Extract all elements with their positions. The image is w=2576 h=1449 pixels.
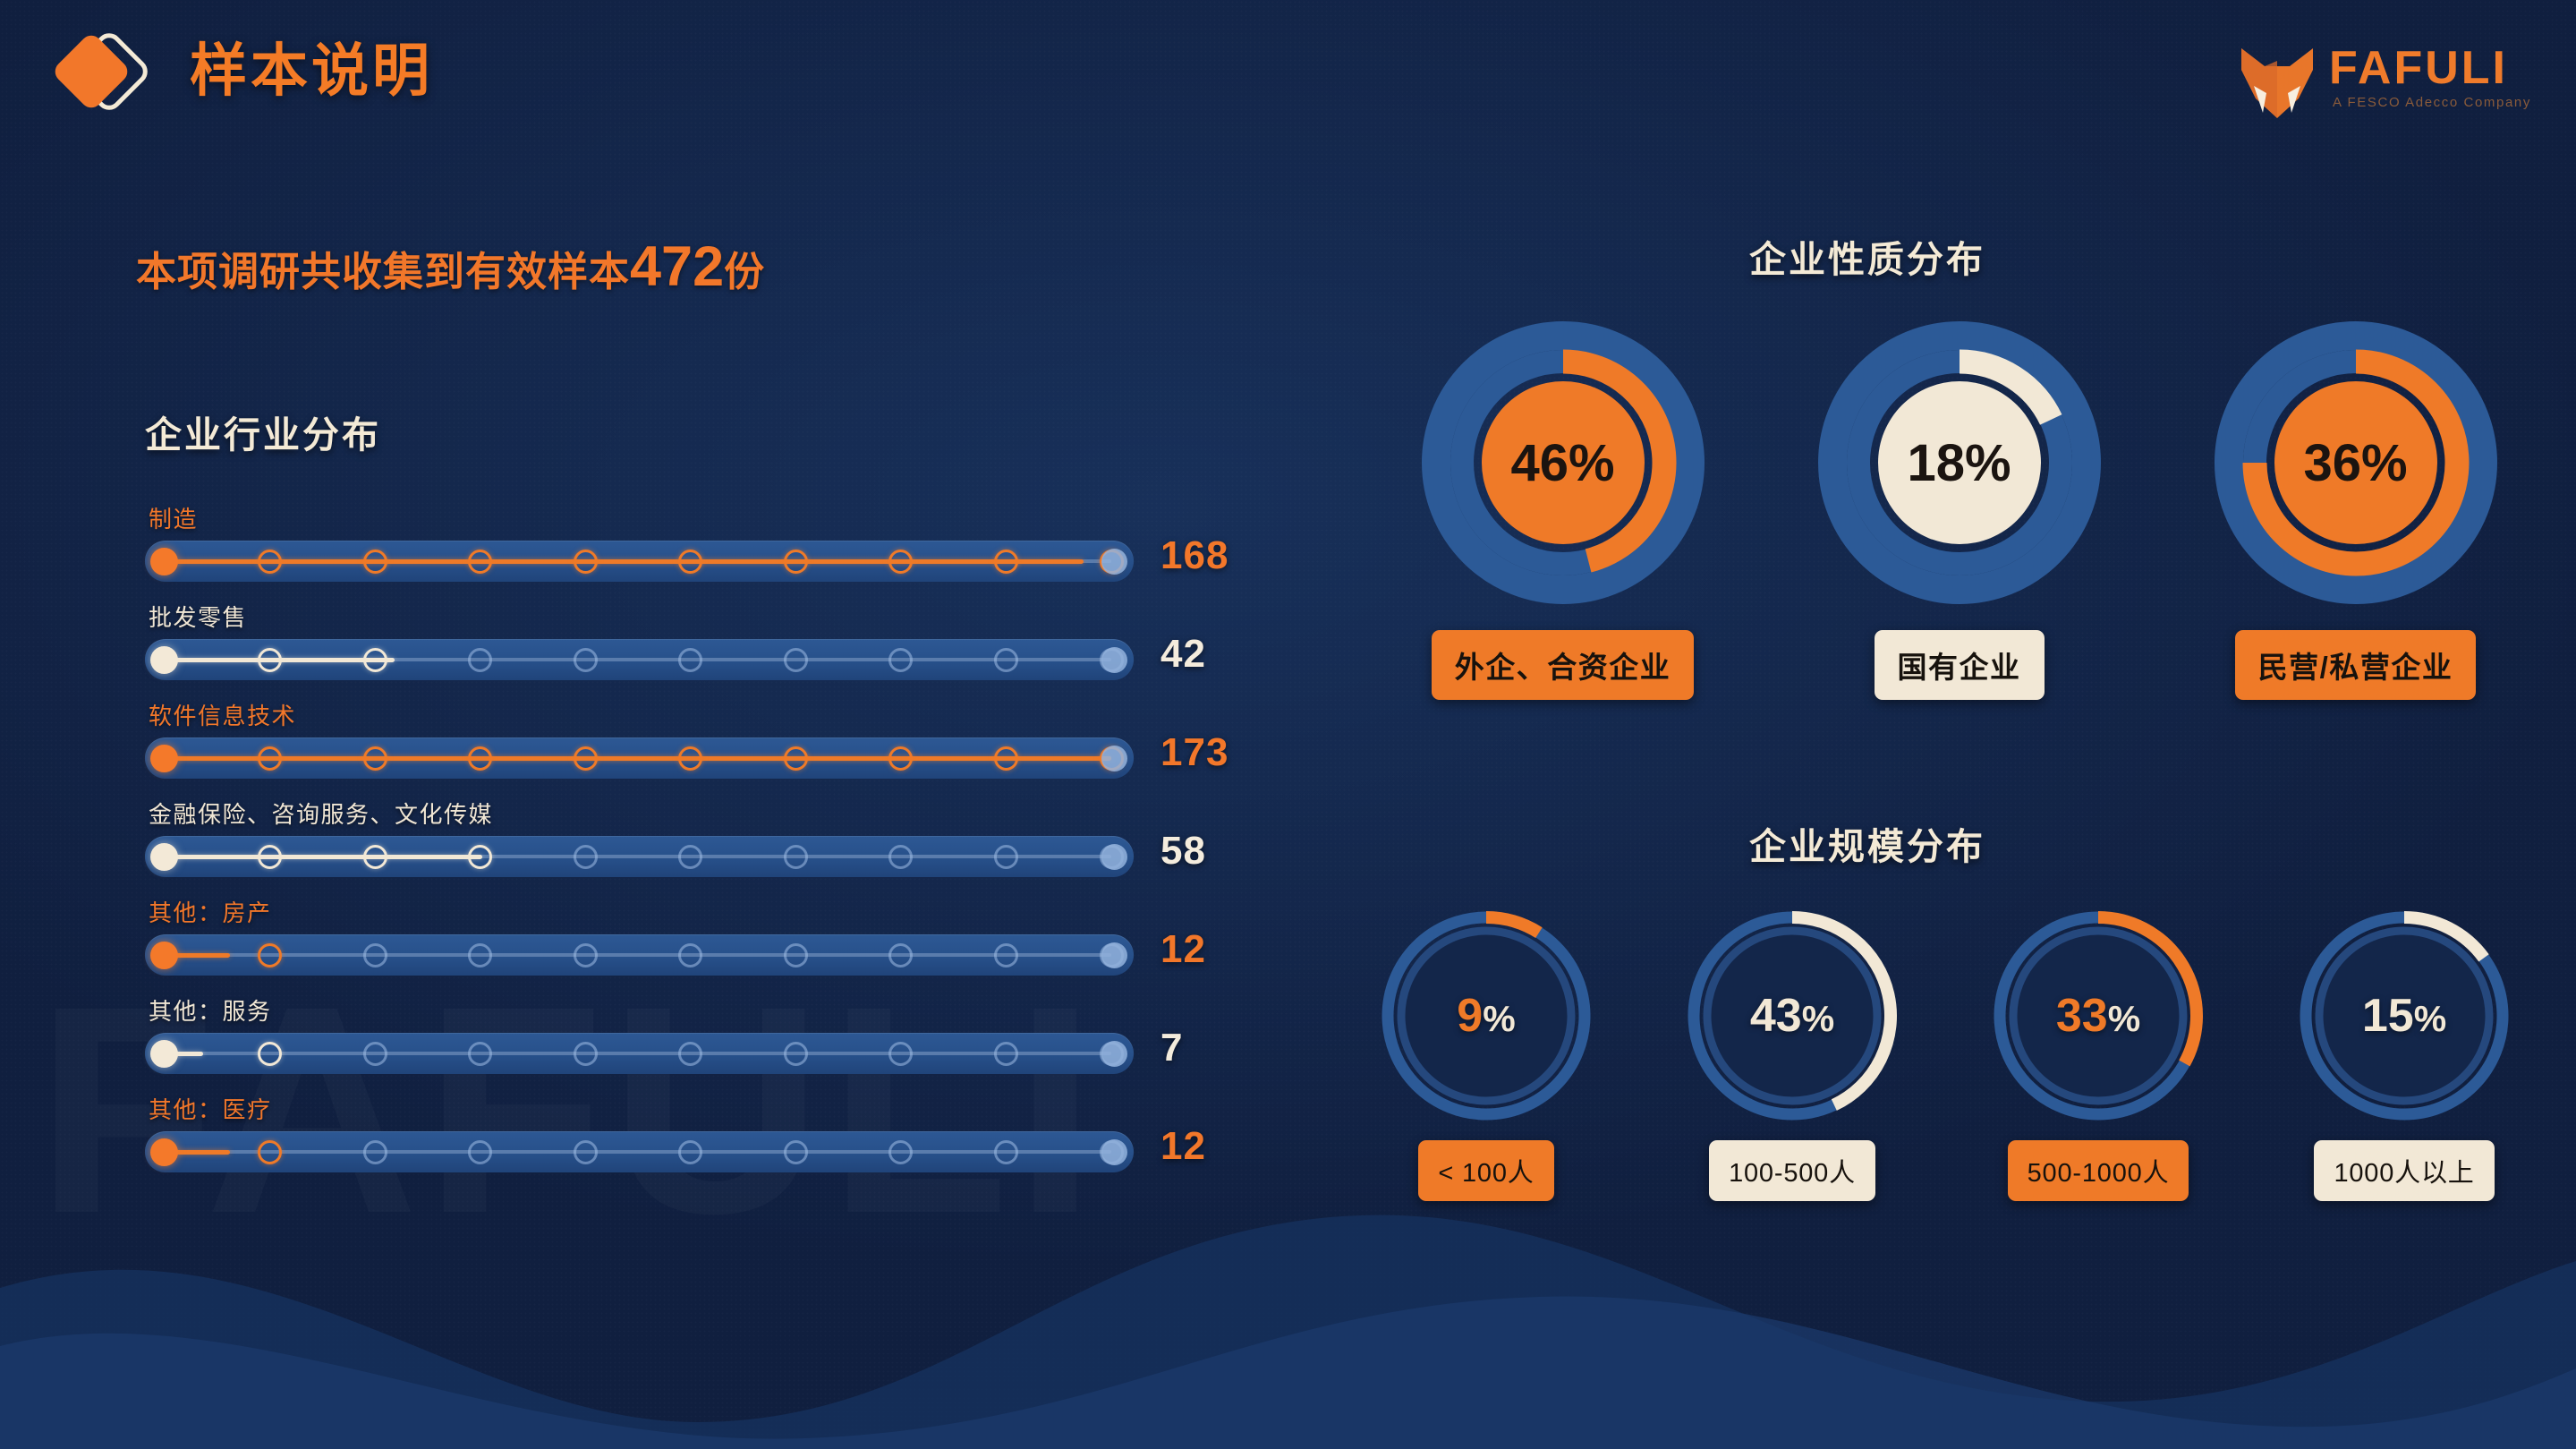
bar-start-dot <box>150 548 178 575</box>
slide-background: FAFULI 样本说明 FAFULI A FESCO Adecco Compan… <box>0 0 2576 1449</box>
bar-label: 制造 <box>149 501 198 534</box>
industry-bar-list: 制造168批发零售42软件信息技术173金融保险、咨询服务、文化传媒58其他：房… <box>145 501 1254 1190</box>
bar-node <box>784 1140 808 1164</box>
donut-legend-pill[interactable]: 民营/私营企业 <box>2235 630 2477 700</box>
bar-node <box>888 746 913 771</box>
bar-node <box>994 943 1018 967</box>
bar-label: 其他：房产 <box>149 895 272 928</box>
bar-node <box>468 1140 492 1164</box>
scale-donut-item: 15%1000人以上 <box>2251 904 2557 1201</box>
bar-value: 7 <box>1160 1026 1183 1070</box>
bar-node <box>678 845 702 869</box>
bar-node <box>994 550 1018 574</box>
bar-node <box>888 648 913 672</box>
bar-start-dot <box>150 646 178 674</box>
brand-tagline: A FESCO Adecco Company <box>2333 95 2531 110</box>
donut-chart: 18% <box>1812 315 2107 610</box>
headline-suffix: 份 <box>724 249 765 294</box>
diamond-logo-icon <box>52 27 164 116</box>
bar-node <box>994 845 1018 869</box>
bar-end-knob <box>1101 549 1127 575</box>
bar-node <box>258 943 282 967</box>
bar-start-dot <box>150 1040 178 1068</box>
bar-node <box>363 845 387 869</box>
bar-node <box>784 648 808 672</box>
bar-value: 58 <box>1160 829 1206 874</box>
bar-node <box>574 1042 598 1066</box>
bar-track[interactable] <box>145 737 1134 779</box>
bar-node <box>784 550 808 574</box>
donut-center-value: 15% <box>2362 989 2446 1043</box>
nature-donut-item: 36%民营/私营企业 <box>2157 315 2554 700</box>
donut-center-value: 33% <box>2056 989 2140 1043</box>
bar-node <box>784 746 808 771</box>
scale-donut-item: 43%100-500人 <box>1639 904 1945 1201</box>
bar-node <box>363 648 387 672</box>
headline-number: 472 <box>630 235 724 298</box>
scale-donut-row: 9%< 100人43%100-500人33%500-1000人15%1000人以… <box>1333 904 2559 1201</box>
slide-header: 样本说明 FAFULI A FESCO Adecco Company <box>0 0 2576 157</box>
bar-row: 批发零售42 <box>145 600 1254 698</box>
bar-node <box>258 550 282 574</box>
bar-node <box>258 746 282 771</box>
bar-node <box>994 648 1018 672</box>
donut-chart: 33% <box>1986 904 2210 1128</box>
bar-fill <box>165 855 482 859</box>
bar-rail <box>165 1052 1111 1055</box>
donut-legend-pill[interactable]: 500-1000人 <box>2008 1140 2189 1201</box>
bar-track[interactable] <box>145 1131 1134 1172</box>
donut-legend-pill[interactable]: 外企、合资企业 <box>1432 630 1695 700</box>
bar-node <box>363 746 387 771</box>
bar-end-knob <box>1101 844 1127 870</box>
bar-start-dot <box>150 745 178 772</box>
bar-value: 173 <box>1160 730 1228 775</box>
bar-track[interactable] <box>145 541 1134 582</box>
bar-end-knob <box>1101 746 1127 771</box>
nature-donut-item: 46%外企、合资企业 <box>1365 315 1761 700</box>
donut-chart: 43% <box>1680 904 1904 1128</box>
bar-label: 其他：服务 <box>149 993 272 1027</box>
bar-node <box>363 943 387 967</box>
headline-prefix: 本项调研共收集到有效样本 <box>136 249 630 294</box>
bar-track[interactable] <box>145 836 1134 877</box>
bar-node <box>994 1042 1018 1066</box>
bar-value: 12 <box>1160 1124 1206 1169</box>
bar-label: 其他：医疗 <box>149 1092 272 1125</box>
bar-node <box>258 1140 282 1164</box>
bar-node <box>468 845 492 869</box>
donut-legend-pill[interactable]: < 100人 <box>1418 1140 1553 1201</box>
bar-node <box>888 550 913 574</box>
nature-donut-row: 46%外企、合资企业18%国有企业36%民营/私营企业 <box>1365 315 2555 700</box>
bar-end-knob <box>1101 1139 1127 1165</box>
bar-start-dot <box>150 942 178 969</box>
bar-node <box>678 1042 702 1066</box>
bar-track[interactable] <box>145 1033 1134 1074</box>
bar-node <box>678 746 702 771</box>
bar-node <box>468 943 492 967</box>
bar-node <box>574 943 598 967</box>
donut-chart: 36% <box>2208 315 2504 610</box>
bar-node <box>888 1042 913 1066</box>
bar-end-knob <box>1101 1041 1127 1067</box>
bar-node <box>574 1140 598 1164</box>
bar-node <box>784 1042 808 1066</box>
bar-node <box>574 845 598 869</box>
headline: 本项调研共收集到有效样本472份 <box>136 234 765 299</box>
donut-center-value: 46% <box>1482 381 1645 544</box>
nature-section-title: 企业性质分布 <box>1749 229 1985 283</box>
bar-start-dot <box>150 843 178 871</box>
scale-donut-item: 9%< 100人 <box>1333 904 1639 1201</box>
bar-end-knob <box>1101 647 1127 673</box>
bar-end-knob <box>1101 942 1127 968</box>
nature-donut-item: 18%国有企业 <box>1761 315 2157 700</box>
bar-label: 软件信息技术 <box>149 698 296 731</box>
bar-label: 批发零售 <box>149 600 247 633</box>
donut-legend-pill[interactable]: 1000人以上 <box>2314 1140 2494 1201</box>
donut-center-value: 36% <box>2274 381 2437 544</box>
bar-row: 其他：医疗12 <box>145 1092 1254 1190</box>
bar-value: 42 <box>1160 632 1206 677</box>
bar-node <box>468 1042 492 1066</box>
bar-node <box>678 943 702 967</box>
bar-node <box>363 1042 387 1066</box>
bar-node <box>678 648 702 672</box>
bar-node <box>363 1140 387 1164</box>
bar-rail <box>165 953 1111 957</box>
bar-node <box>994 746 1018 771</box>
bar-node <box>888 845 913 869</box>
brand-logo: FAFULI A FESCO Adecco Company <box>2236 39 2531 124</box>
donut-chart: 9% <box>1374 904 1598 1128</box>
bar-row: 制造168 <box>145 501 1254 600</box>
bar-value: 168 <box>1160 533 1228 578</box>
bar-node <box>258 1042 282 1066</box>
donut-chart: 15% <box>2292 904 2516 1128</box>
scale-donut-item: 33%500-1000人 <box>1945 904 2251 1201</box>
industry-section-title: 企业行业分布 <box>145 405 381 458</box>
bar-node <box>678 550 702 574</box>
fox-head-icon <box>2236 43 2318 120</box>
scale-section-title: 企业规模分布 <box>1749 816 1985 870</box>
donut-center-value: 9% <box>1457 989 1515 1043</box>
bar-fill <box>165 559 1084 564</box>
bar-node <box>994 1140 1018 1164</box>
bar-row: 金融保险、咨询服务、文化传媒58 <box>145 797 1254 895</box>
bar-track[interactable] <box>145 639 1134 680</box>
page-title: 样本说明 <box>190 25 433 107</box>
bar-node <box>258 845 282 869</box>
bar-node <box>258 648 282 672</box>
bar-node <box>468 550 492 574</box>
bar-rail <box>165 1150 1111 1154</box>
bar-node <box>468 648 492 672</box>
donut-center-value: 43% <box>1750 989 1834 1043</box>
bar-row: 其他：服务7 <box>145 993 1254 1092</box>
bar-start-dot <box>150 1138 178 1166</box>
bar-node <box>888 1140 913 1164</box>
bar-node <box>784 845 808 869</box>
brand-name: FAFULI <box>2329 41 2508 95</box>
bar-track[interactable] <box>145 934 1134 976</box>
donut-legend-pill[interactable]: 国有企业 <box>1875 630 2045 700</box>
bar-node <box>574 746 598 771</box>
bar-node <box>574 550 598 574</box>
bar-node <box>888 943 913 967</box>
bar-fill <box>165 756 1111 761</box>
bar-node <box>468 746 492 771</box>
bar-node <box>784 943 808 967</box>
bar-row: 其他：房产12 <box>145 895 1254 993</box>
bar-value: 12 <box>1160 927 1206 972</box>
bar-node <box>363 550 387 574</box>
donut-center-value: 18% <box>1878 381 2041 544</box>
donut-chart: 46% <box>1416 315 1711 610</box>
bar-row: 软件信息技术173 <box>145 698 1254 797</box>
bar-label: 金融保险、咨询服务、文化传媒 <box>149 797 493 830</box>
donut-legend-pill[interactable]: 100-500人 <box>1709 1140 1875 1201</box>
bar-node <box>574 648 598 672</box>
bar-node <box>678 1140 702 1164</box>
